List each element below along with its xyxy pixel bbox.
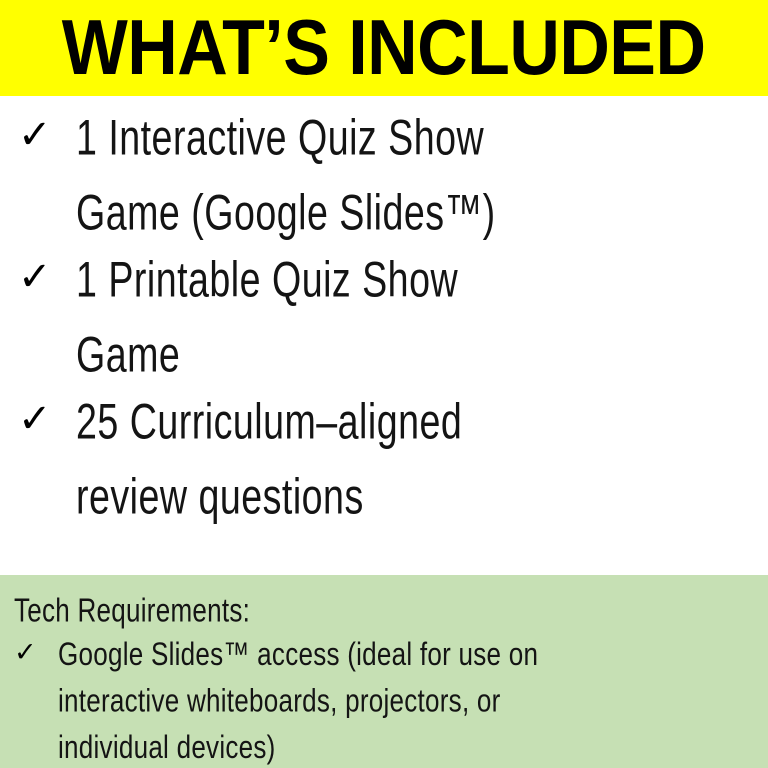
tech-requirements-item: ✓ Google Slides™ access (ideal for use o… [14, 631, 758, 763]
list-item: ✓ 1 Interactive Quiz Show Game (Google S… [0, 100, 768, 240]
included-list: ✓ 1 Interactive Quiz Show Game (Google S… [0, 100, 768, 526]
tech-requirements-heading: Tech Requirements: [14, 589, 753, 632]
page-title: WHAT’S INCLUDED [62, 8, 706, 88]
list-item-label: 25 Curriculum–aligned review questions [76, 384, 630, 534]
list-item: ✓ 1 Printable Quiz Show Game [0, 242, 768, 382]
header-banner: WHAT’S INCLUDED [0, 0, 768, 96]
checkmark-icon: ✓ [14, 631, 58, 675]
checkmark-icon: ✓ [14, 384, 76, 454]
list-item: ✓ 25 Curriculum–aligned review questions [0, 384, 768, 524]
checkmark-icon: ✓ [14, 242, 76, 312]
whats-included-card: WHAT’S INCLUDED ✓ 1 Interactive Quiz Sho… [0, 0, 768, 768]
tech-requirements-panel: Tech Requirements: ✓ Google Slides™ acce… [0, 575, 768, 768]
tech-requirements-item-label: Google Slides™ access (ideal for use on … [58, 631, 646, 768]
list-item-label: 1 Interactive Quiz Show Game (Google Sli… [76, 100, 630, 250]
checkmark-icon: ✓ [14, 100, 76, 170]
list-item-label: 1 Printable Quiz Show Game [76, 242, 630, 392]
